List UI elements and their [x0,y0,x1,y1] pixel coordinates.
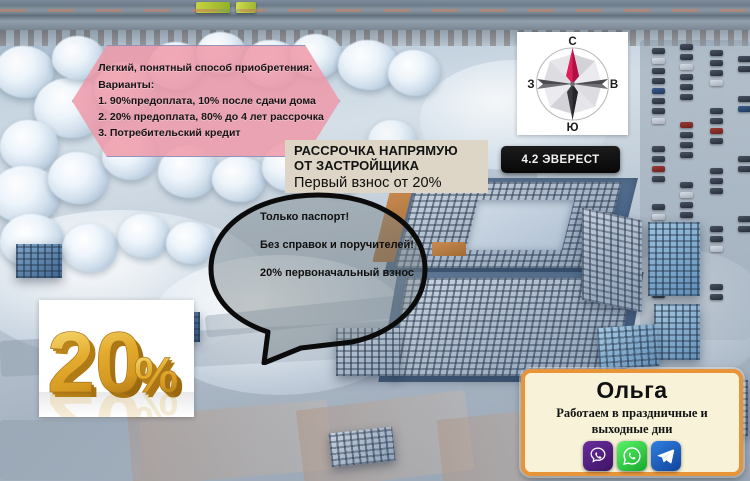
contact-card: Ольга Работаем в праздничные и выходные … [521,369,743,476]
svg-text:20: 20 [47,375,143,417]
requirements-line: 20% первоначальный взнос [260,266,426,281]
low-building [328,427,395,468]
contact-hours-line1: Работаем в праздничные и [525,405,739,421]
purchase-options-line: Легкий, понятный способ приобретения: [98,60,324,76]
compass-east-label: В [610,79,618,91]
project-name-text: 4.2 ЭВЕРЕСТ [521,154,599,166]
purchase-options-line: 1. 90%предоплата, 10% после сдачи дома [98,93,324,109]
requirements-line: Без справок и поручителей! [260,238,426,253]
road-vehicle [236,2,256,13]
svg-text:%: % [134,383,178,417]
compass-south-label: Ю [567,122,579,134]
compass-north-label: С [568,36,576,48]
installment-banner-line2: ОТ ЗАСТРОЙЩИКА [294,159,479,174]
promo-poster: Легкий, понятный способ приобретения: Ва… [0,0,750,481]
contact-hours-line2: выходные дни [525,421,739,437]
twenty-percent-badge: 20 % 20 % 20 % 20 % [39,300,194,417]
plaza-pavement [0,420,140,480]
compass-west-label: З [527,79,534,91]
purchase-options-line: Варианты: [98,77,324,93]
telegram-icon[interactable] [651,441,681,471]
road-vehicle [196,2,230,13]
installment-banner-line3: Первый взнос от 20% [294,174,479,192]
installment-banner: РАССРОЧКА НАПРЯМУЮ ОТ ЗАСТРОЙЩИКА Первый… [285,140,488,193]
installment-banner-line1: РАССРОЧКА НАПРЯМУЮ [294,144,479,159]
requirements-bubble: Только паспорт! Без справок и поручителе… [206,192,430,365]
purchase-options-list: Легкий, понятный способ приобретения: Ва… [88,60,324,141]
low-building [597,324,660,370]
project-name-label: 4.2 ЭВЕРЕСТ [501,146,620,173]
purchase-options-line: 2. 20% предоплата, 80% до 4 лет рассрочк… [98,109,324,125]
low-building [16,244,62,278]
requirements-bubble-text: Только паспорт! Без справок и поручителе… [260,210,426,281]
contact-name: Ольга [525,378,739,402]
messenger-icon-row [525,441,739,471]
whatsapp-icon[interactable] [617,441,647,471]
viber-icon[interactable] [583,441,613,471]
compass-rose: С В Ю З [517,32,628,135]
requirements-line: Только паспорт! [260,210,426,225]
